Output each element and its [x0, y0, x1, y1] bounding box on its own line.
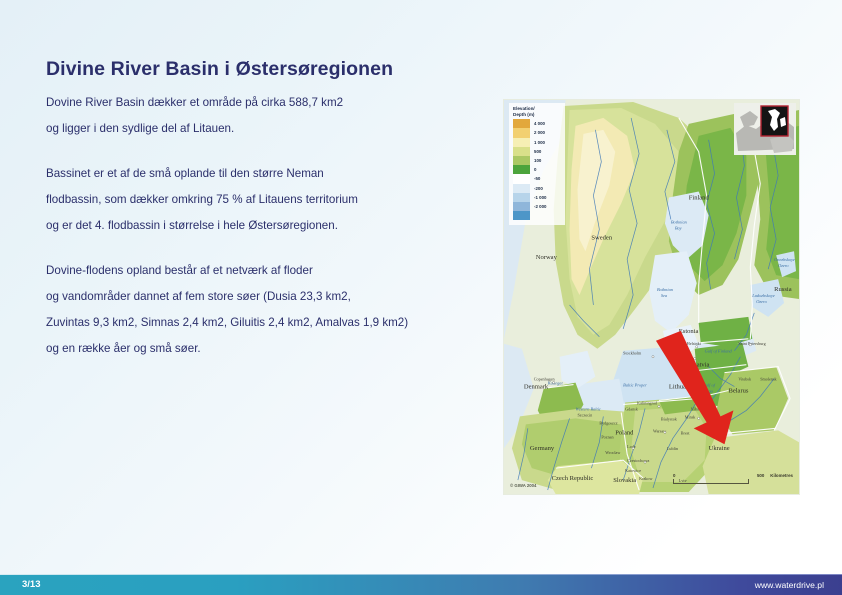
text-line: Dovine River Basin dækker et område på c… — [46, 90, 496, 116]
city-label: Stockholm — [623, 351, 642, 356]
city-label: Copenhagen — [534, 377, 556, 382]
city-label: Bialystok — [661, 416, 678, 421]
inset-graphic — [734, 103, 796, 155]
legend-label: 100 — [534, 156, 541, 165]
legend-swatch — [513, 156, 530, 165]
text-line: og en række åer og små søer. — [46, 336, 496, 362]
legend-swatch — [513, 184, 530, 193]
water-label: Onezhskoye — [774, 257, 795, 262]
legend-label: 0 — [534, 165, 536, 174]
map-scalebar: 0 500 Kilometres — [673, 473, 793, 484]
legend-swatch — [513, 165, 530, 174]
text-line: Dovine-flodens opland består af et netvæ… — [46, 258, 496, 284]
country-label: Denmark — [524, 384, 549, 391]
legend-label: -2 000 — [534, 202, 546, 211]
country-label: Ukraine — [709, 445, 730, 452]
legend-row: 500 — [513, 147, 562, 156]
europe-locator-inset — [734, 103, 796, 155]
city-label: Minsk — [685, 414, 697, 419]
legend-row: -1 000 — [513, 193, 562, 202]
city-label: Bydgoszcz — [599, 420, 617, 425]
legend-swatch — [513, 147, 530, 156]
legend-label: 4 000 — [534, 119, 545, 128]
country-label: Norway — [536, 254, 558, 261]
country-label: Czech Republic — [552, 475, 594, 482]
page-number: 3/13 — [22, 575, 41, 595]
legend-swatch — [513, 211, 530, 220]
water-label: Western Baltic — [576, 406, 601, 411]
water-label: Ozero — [778, 263, 789, 268]
text-line: Bassinet er et af de små oplande til den… — [46, 161, 496, 187]
city-label: Lublin — [667, 446, 679, 451]
water-label: Bothnian — [671, 219, 687, 224]
country-label: Poland — [615, 429, 634, 436]
text-line: og ligger i den sydlige del af Litauen. — [46, 116, 496, 142]
legend-row — [513, 211, 562, 220]
body-text-block: Dovine River Basin dækker et område på c… — [46, 90, 496, 362]
water-label: Bay — [675, 225, 682, 230]
water-label: Ozero — [756, 299, 767, 304]
baltic-region-map-image: Bothnian Bay Bothnian Sea Archipelago Se… — [503, 99, 800, 495]
legend-swatch — [513, 193, 530, 202]
legend-swatch — [513, 174, 530, 183]
legend-swatch — [513, 119, 530, 128]
legend-label: 500 — [534, 147, 541, 156]
city-label: Lodz — [627, 444, 636, 449]
legend-label: -200 — [534, 184, 543, 193]
legend-row: 0 — [513, 165, 562, 174]
text-line: Zuvintas 9,3 km2, Simnas 2,4 km2, Giluit… — [46, 310, 496, 336]
legend-label: -1 000 — [534, 193, 546, 202]
legend-label: -50 — [534, 174, 540, 183]
city-label: Vitebsk — [738, 377, 752, 382]
city-label: Gdansk — [625, 406, 639, 411]
legend-row: 1 000 — [513, 138, 562, 147]
map-credit: © GIWA 2004 — [510, 483, 536, 488]
paragraph-1: Dovine River Basin dækker et område på c… — [46, 90, 496, 142]
scalebar-start-label: 0 — [673, 473, 675, 478]
legend-swatch — [513, 138, 530, 147]
page-title: Divine River Basin i Østersøregionen — [46, 58, 393, 81]
country-label: Belarus — [728, 388, 748, 395]
slide-canvas: Divine River Basin i Østersøregionen Dov… — [0, 0, 842, 595]
city-label: Helsinki — [687, 341, 702, 346]
legend-label: 2 000 — [534, 128, 545, 137]
legend-swatch — [513, 128, 530, 137]
water-label: Sea — [661, 293, 668, 298]
footer-bar: 3/13 www.waterdrive.pl — [0, 575, 842, 595]
water-label: Baltic Proper — [623, 383, 647, 388]
water-label: Ladozhskoye — [751, 293, 775, 298]
legend-row: -50 — [513, 174, 562, 183]
paragraph-2: Bassinet er et af de små oplande til den… — [46, 161, 496, 239]
country-label: Sweden — [591, 234, 612, 241]
country-label: Finland — [689, 194, 710, 201]
legend-row: 100 — [513, 156, 562, 165]
map-legend: Elevation/ Depth (m) 4 000 2 000 1 000 5… — [509, 103, 565, 225]
legend-row: 4 000 — [513, 119, 562, 128]
city-label: Poznan — [601, 434, 614, 439]
city-label: Smolensk — [760, 377, 777, 382]
legend-title: Elevation/ Depth (m) — [513, 106, 562, 117]
footer-url-link[interactable]: www.waterdrive.pl — [755, 575, 824, 595]
legend-row: -2 000 — [513, 202, 562, 211]
country-label: Germany — [530, 445, 555, 452]
city-label: Krakow — [639, 476, 652, 481]
city-label: Szczecin — [578, 412, 594, 417]
country-label: Russia — [774, 286, 792, 293]
text-line: og vandområder dannet af fem store søer … — [46, 284, 496, 310]
city-label: Katowice — [625, 468, 641, 473]
legend-row: -200 — [513, 184, 562, 193]
city-label: Kaliningrad — [637, 400, 658, 405]
paragraph-3: Dovine-flodens opland består af et netvæ… — [46, 258, 496, 362]
country-label: Slovakia — [613, 477, 636, 484]
text-line: flodbassin, som dækker omkring 75 % af L… — [46, 187, 496, 213]
water-label: Bothnian — [657, 287, 673, 292]
scalebar-end-label: 500 — [757, 473, 764, 478]
scalebar-unit-label: Kilometres — [770, 473, 793, 478]
legend-label: 1 000 — [534, 138, 545, 147]
water-label: Gulf of Finland — [705, 349, 733, 354]
legend-row: 2 000 — [513, 128, 562, 137]
city-label: Saint Petersburg — [738, 341, 765, 346]
legend-swatch — [513, 202, 530, 211]
city-label: Brest — [681, 430, 691, 435]
scalebar-bar — [673, 479, 749, 484]
city-label: Wroclaw — [605, 450, 620, 455]
text-line: og er det 4. flodbassin i størrelse i he… — [46, 213, 496, 239]
